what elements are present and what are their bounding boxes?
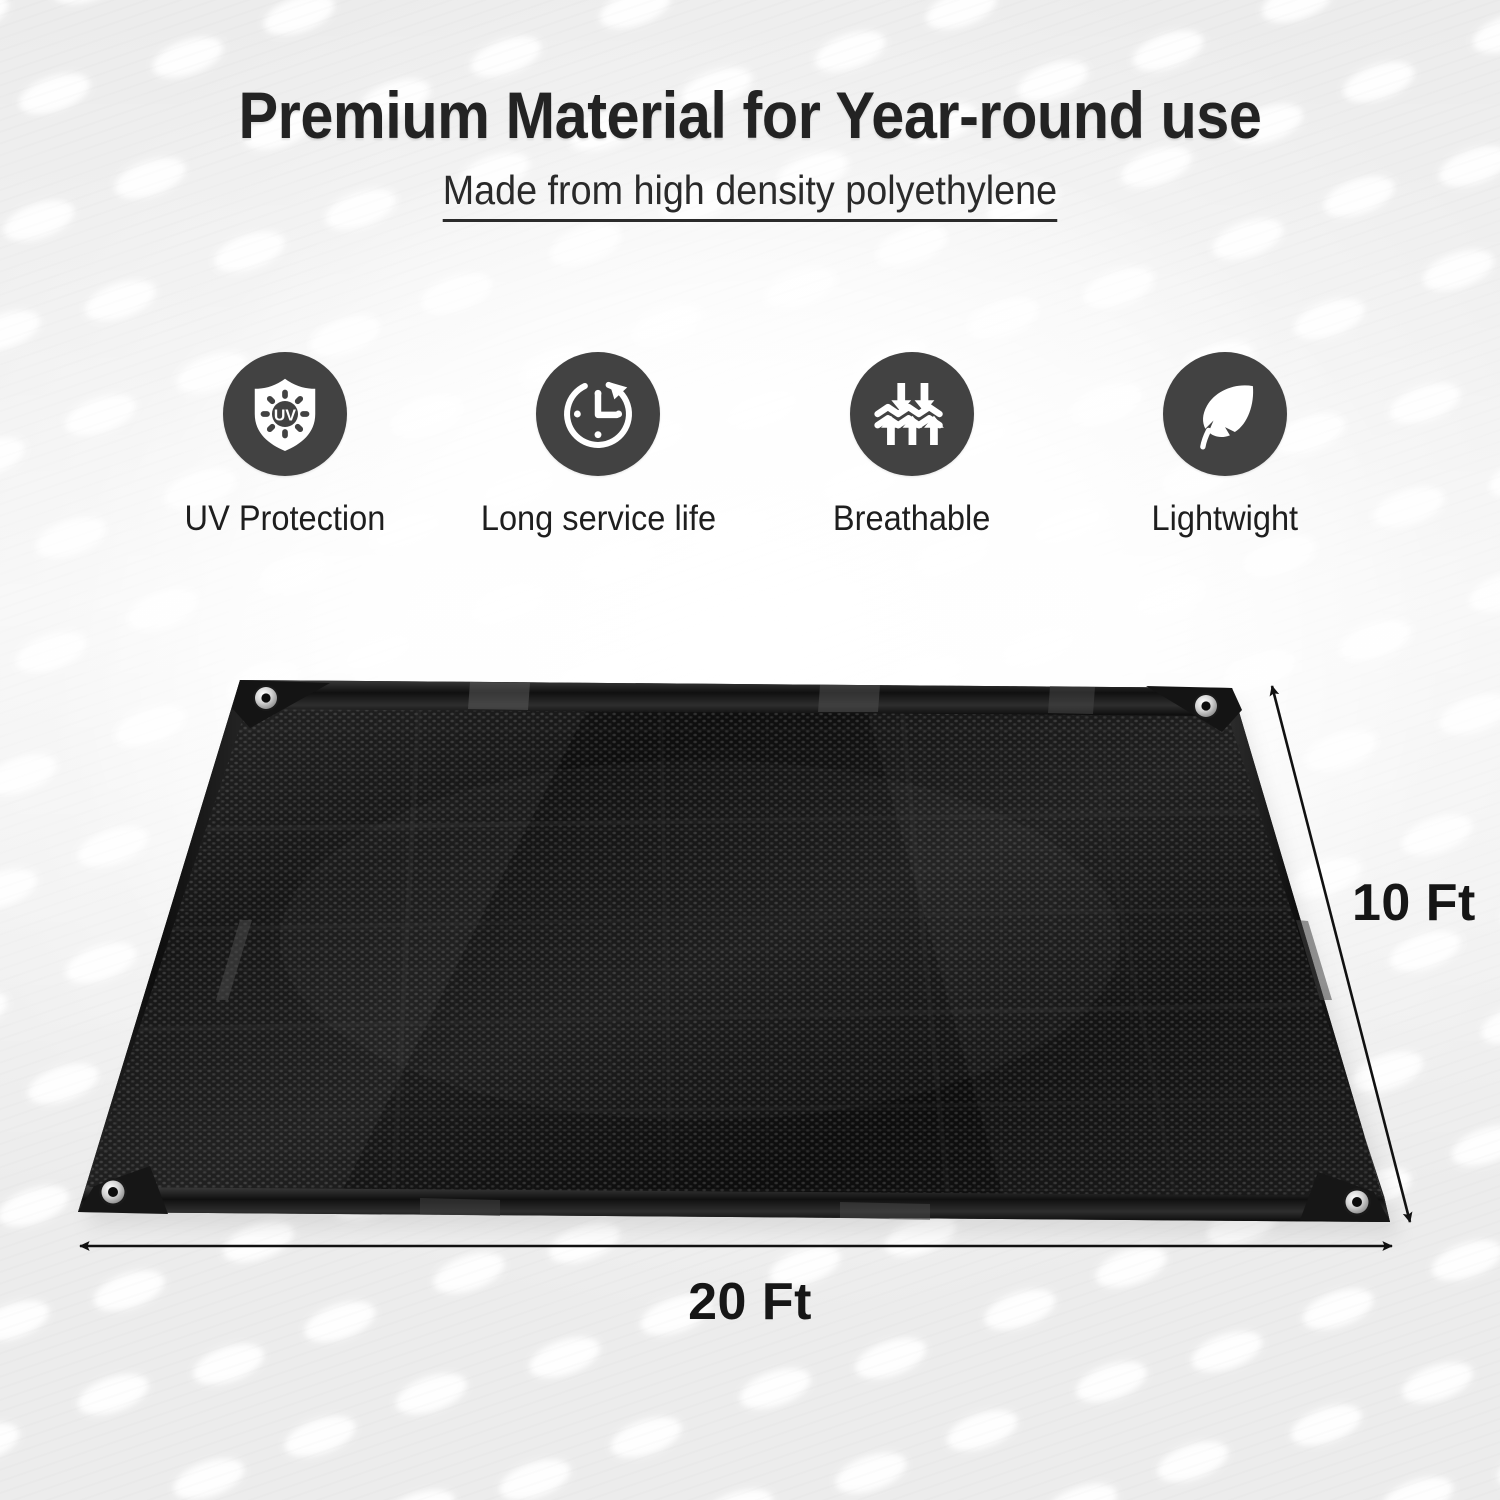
grommet-group: [99, 685, 1371, 1216]
page-title: Premium Material for Year-round use: [75, 82, 1425, 148]
dimension-label-width: 20 Ft: [0, 1272, 1500, 1332]
feature-label-long-service-life: Long service life: [481, 500, 716, 539]
feather-leaf-icon: [1163, 352, 1287, 476]
product-image-shade-tarp: [0, 600, 1500, 1300]
page-subtitle: Made from high density polyethylene: [443, 166, 1057, 222]
feature-item-breathable: Breathable: [777, 352, 1047, 539]
feature-label-uv-protection: UV Protection: [185, 500, 386, 539]
uv-shield-icon: UV: [223, 352, 347, 476]
feature-item-lightwight: Lightwight: [1090, 352, 1360, 539]
breathable-waves-icon: [850, 352, 974, 476]
page-subtitle-wrap: Made from high density polyethylene: [0, 166, 1500, 222]
dimension-line-height: [1272, 686, 1410, 1222]
feature-label-lightwight: Lightwight: [1152, 500, 1299, 539]
feature-label-breathable: Breathable: [833, 500, 990, 539]
feature-item-long-service-life: Long service life: [463, 352, 733, 539]
feature-list: UV UV Protection: [150, 352, 1360, 552]
feature-item-uv-protection: UV UV Protection: [150, 352, 420, 539]
svg-text:UV: UV: [274, 407, 297, 424]
infographic-page: Premium Material for Year-round use Made…: [0, 0, 1500, 1500]
clock-arrow-icon: [536, 352, 660, 476]
dimension-label-height: 10 Ft: [1352, 873, 1476, 933]
